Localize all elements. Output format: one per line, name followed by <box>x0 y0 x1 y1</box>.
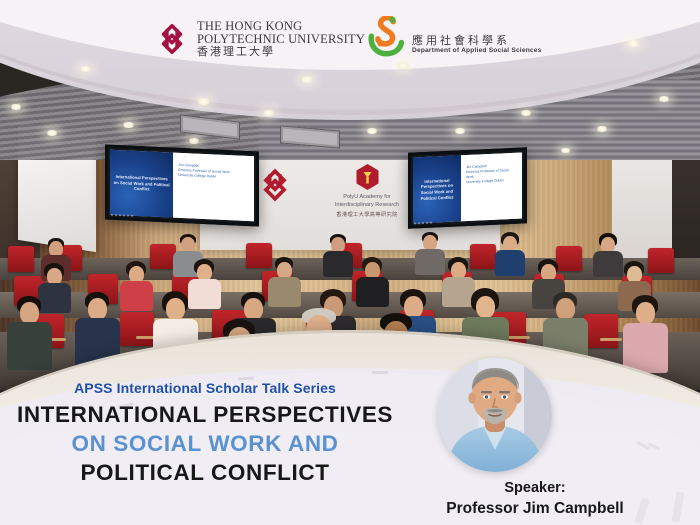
downlight <box>366 128 378 134</box>
header-logos: THE HONG KONG POLYTECHNIC UNIVERSITY 香港理… <box>0 12 700 68</box>
pair-hexagon-icon <box>355 163 380 191</box>
downlight <box>188 138 200 144</box>
slide-body-panel: Jim Campbell Emeritus Professor of Socia… <box>173 153 254 222</box>
downlight <box>196 98 211 105</box>
speaker-block: Speaker: Professor Jim Campbell <box>390 480 680 518</box>
seat <box>8 246 34 272</box>
screen-indicator-lights <box>414 222 432 225</box>
seat <box>584 314 618 348</box>
downlight <box>596 126 608 132</box>
slide-title: International Perspectives on Social Wor… <box>113 174 170 194</box>
title-line-2: ON SOCIAL WORK AND <box>0 431 410 457</box>
slide: International Perspectives on Social Wor… <box>110 150 254 222</box>
downlight <box>560 148 571 153</box>
downlight <box>122 122 135 128</box>
downlight <box>658 96 670 102</box>
slide-body-panel: Jim Campbell Emeritus Professor of Socia… <box>461 153 522 222</box>
armrest <box>508 336 530 339</box>
seat <box>648 248 674 273</box>
downlight <box>46 130 58 136</box>
seat <box>120 312 154 346</box>
air-signage: PolyU Academy for Interdisciplinary Rese… <box>326 163 408 218</box>
apss-s-icon <box>366 16 406 60</box>
polyu-logo: THE HONG KONG POLYTECHNIC UNIVERSITY 香港理… <box>155 20 365 58</box>
downlight <box>300 76 314 83</box>
downlight <box>262 110 275 116</box>
apss-logo: 應用社會科學系 Department of Applied Social Sci… <box>366 16 542 60</box>
title-block: APSS International Scholar Talk Series I… <box>0 380 410 486</box>
downlight <box>10 104 22 110</box>
polyu-logo-text: THE HONG KONG POLYTECHNIC UNIVERSITY 香港理… <box>197 20 365 58</box>
title-line-3: POLITICAL CONFLICT <box>0 460 410 486</box>
screen-indicator-lights <box>111 214 133 217</box>
speaker-portrait <box>438 358 552 472</box>
downlight <box>520 110 532 116</box>
speaker-name: Professor Jim Campbell <box>390 500 680 518</box>
polyu-line-3: 香港理工大學 <box>197 47 365 58</box>
slide-body-line: University College Dublin <box>466 178 517 185</box>
slide-title-panel: International Perspectives on Social Wor… <box>413 155 461 223</box>
apss-line-1: 應用社會科學系 <box>412 35 542 47</box>
polyu-line-2: POLYTECHNIC UNIVERSITY <box>197 33 365 46</box>
slide-title-panel: International Perspectives on Social Wor… <box>110 150 173 218</box>
slide-title: International Perspectives on Social Wor… <box>416 177 458 202</box>
armrest <box>600 338 622 341</box>
projection-screen-right: International Perspectives on Social Wor… <box>408 147 527 228</box>
air-line-1: PolyU Academy for <box>326 193 408 201</box>
polyu-knot-icon <box>258 168 292 202</box>
seat <box>470 244 496 269</box>
downlight <box>454 128 466 134</box>
apss-logo-text: 應用社會科學系 Department of Applied Social Sci… <box>412 21 542 54</box>
series-kicker: APSS International Scholar Talk Series <box>0 380 410 396</box>
seat <box>246 243 272 268</box>
air-line-3: 香港理工大學高等研究院 <box>326 211 408 218</box>
title-line-1: INTERNATIONAL PERSPECTIVES <box>0 402 410 428</box>
seat <box>556 246 582 271</box>
air-line-2: Interdisciplinary Research <box>326 201 408 209</box>
speaker-label: Speaker: <box>390 480 680 496</box>
poster-image: International Perspectives on Social Wor… <box>0 0 700 525</box>
polyu-knot-icon <box>155 22 189 56</box>
slide: International Perspectives on Social Wor… <box>413 153 522 224</box>
apss-line-2: Department of Applied Social Sciences <box>412 47 542 54</box>
projection-screen-left: International Perspectives on Social Wor… <box>105 145 259 227</box>
